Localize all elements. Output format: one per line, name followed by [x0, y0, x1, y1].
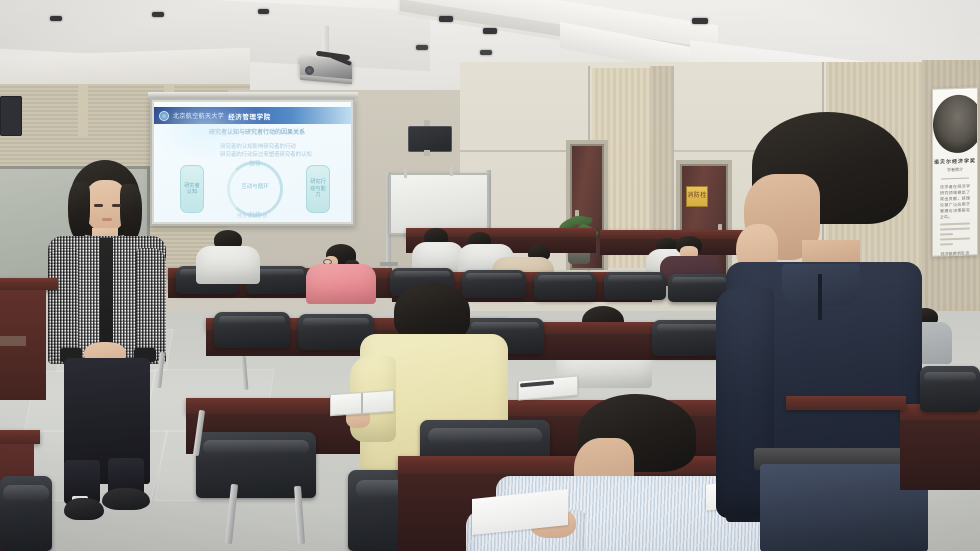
slide-university-name: 北京航空航天大学 [173, 111, 224, 120]
slide-subtitle-2: 研究者的行动反过来塑造研究者的认知 [184, 151, 348, 159]
poster-text-line [940, 222, 970, 225]
chair [0, 476, 52, 551]
ceiling-spotlight [152, 12, 164, 17]
ceiling-spotlight [258, 9, 269, 14]
poster-text-line [940, 227, 970, 230]
scholar-poster: 诺贝尔经济学奖 学者简介 该学者在经济学研究领域做出了突出贡献，其理论被广泛应用… [932, 87, 978, 257]
desk-edge-left-lower [0, 430, 40, 444]
cycle-diagram: 指导 研究者认知 互动与循环 研究行动与能力 升华 [180, 159, 330, 219]
ceiling-spotlight [483, 28, 497, 34]
slide-subtitle-1: 研究者的认知影响研究者的行动 [176, 143, 340, 151]
poster-subtitle: 学者简介 [933, 166, 977, 174]
attendee-white-shirt-row2 [196, 230, 260, 280]
cycle-center-label: 互动与循环 [236, 173, 274, 203]
eye [94, 204, 103, 207]
whiteboard-clip [404, 168, 407, 178]
standing-man [716, 112, 926, 551]
shoe [102, 488, 150, 510]
mouth [102, 218, 112, 221]
poster-text-line [940, 233, 953, 235]
ceiling-spotlight [416, 45, 428, 50]
notebook [330, 390, 394, 416]
poster-text-line [940, 243, 953, 245]
projection-screen: 北京航空航天大学 经济管理学院 研究者认知与研究者行动的因果关系 研究者的认知影… [150, 98, 355, 226]
chair [534, 272, 596, 300]
whiteboard-clip [450, 166, 453, 176]
scholar-portrait [933, 94, 978, 154]
desk-side-right [900, 420, 980, 490]
whiteboard-foot [380, 262, 398, 266]
presenter [48, 160, 166, 540]
ceiling-spotlight [50, 16, 62, 21]
chair [214, 312, 290, 348]
ceiling-spotlight [692, 18, 708, 24]
ceiling-spotlight [439, 16, 453, 22]
sleeve [48, 248, 78, 360]
desk-edge-left [0, 278, 58, 290]
cycle-right-box: 研究行动与能力 [306, 165, 330, 213]
desk-shelf [0, 336, 26, 346]
door-sign: 消防栓 [686, 186, 708, 207]
cycle-left-box: 研究者认知 [180, 165, 204, 213]
whiteboard [389, 173, 489, 235]
eye [112, 204, 121, 207]
ceiling-spotlight [480, 50, 492, 55]
wall-monitor [408, 126, 452, 152]
chair [920, 366, 980, 412]
slide-header: 北京航空航天大学 经济管理学院 [154, 107, 351, 124]
monitor-mount [424, 150, 430, 156]
slide-footer: 经济管理学院 [154, 213, 351, 219]
poster-text-line [940, 237, 970, 240]
slide-title: 研究者认知与研究者行动的因果关系 [166, 129, 348, 138]
polo-placket [818, 274, 822, 320]
slide-school-name: 经济管理学院 [228, 111, 271, 121]
poster-divider [941, 178, 969, 180]
wall-speaker [0, 96, 22, 136]
projector-lens-icon [305, 66, 314, 75]
presentation-slide: 北京航空航天大学 经济管理学院 研究者认知与研究者行动的因果关系 研究者的认知影… [154, 102, 351, 222]
desk-edge-right-2 [786, 396, 906, 410]
sleeve [136, 248, 166, 360]
poster-title: 诺贝尔经济学奖 [933, 157, 977, 166]
university-seal-icon [159, 111, 169, 121]
shoe [64, 498, 104, 520]
poster-body: 该学者在经济学研究领域做出了突出贡献，其理论被广泛应用于管理与决策研究之中。 [933, 183, 977, 221]
chair [604, 272, 666, 300]
classroom-photo: 消防栓 诺贝尔经济学奖 学者简介 该学者在经济学研究领域做出了突出贡献，其理论被… [0, 0, 980, 551]
